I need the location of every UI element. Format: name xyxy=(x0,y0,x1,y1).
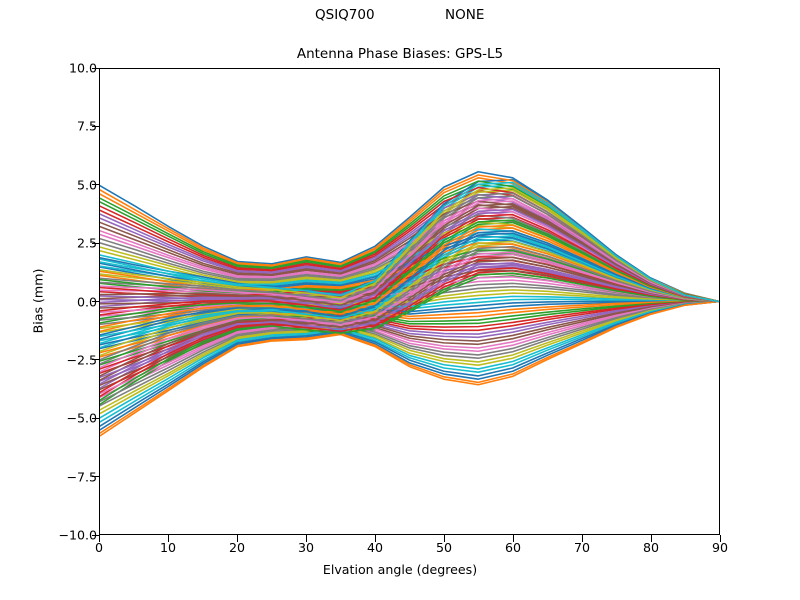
y-tick-mark xyxy=(92,68,99,69)
y-tick-mark xyxy=(92,418,99,419)
y-axis-label-wrap: Bias (mm) xyxy=(38,0,39,1)
plot-area xyxy=(99,68,720,535)
x-tick-label: 40 xyxy=(367,540,383,555)
x-tick-label: 20 xyxy=(229,540,245,555)
x-tick-label: 50 xyxy=(436,540,452,555)
x-tick-label: 80 xyxy=(643,540,659,555)
x-tick-mark xyxy=(168,535,169,542)
x-tick-label: 60 xyxy=(505,540,521,555)
x-tick-label: 90 xyxy=(712,540,728,555)
y-tick-mark xyxy=(92,301,99,302)
x-axis-label: Elvation angle (degrees) xyxy=(0,562,800,577)
y-tick-mark xyxy=(92,476,99,477)
x-tick-mark xyxy=(651,535,652,542)
y-tick-mark xyxy=(92,126,99,127)
y-tick-mark xyxy=(92,184,99,185)
x-tick-label: 70 xyxy=(574,540,590,555)
x-tick-mark xyxy=(99,535,100,542)
x-tick-mark xyxy=(375,535,376,542)
x-tick-mark xyxy=(720,535,721,542)
antenna-name-header: QSIQ700 xyxy=(315,7,375,23)
x-tick-mark xyxy=(306,535,307,542)
chart-title: Antenna Phase Biases: GPS-L5 xyxy=(0,46,800,62)
radome-name-header: NONE xyxy=(445,7,484,23)
figure: QSIQ700 NONE Antenna Phase Biases: GPS-L… xyxy=(0,0,800,600)
y-axis-label: Bias (mm) xyxy=(31,269,46,334)
y-tick-mark xyxy=(92,359,99,360)
x-tick-label: 0 xyxy=(95,540,103,555)
y-tick-mark xyxy=(92,243,99,244)
x-tick-mark xyxy=(513,535,514,542)
x-tick-mark xyxy=(237,535,238,542)
line-series-svg xyxy=(100,69,719,534)
x-tick-label: 10 xyxy=(160,540,176,555)
x-tick-mark xyxy=(444,535,445,542)
x-tick-mark xyxy=(582,535,583,542)
x-tick-label: 30 xyxy=(298,540,314,555)
